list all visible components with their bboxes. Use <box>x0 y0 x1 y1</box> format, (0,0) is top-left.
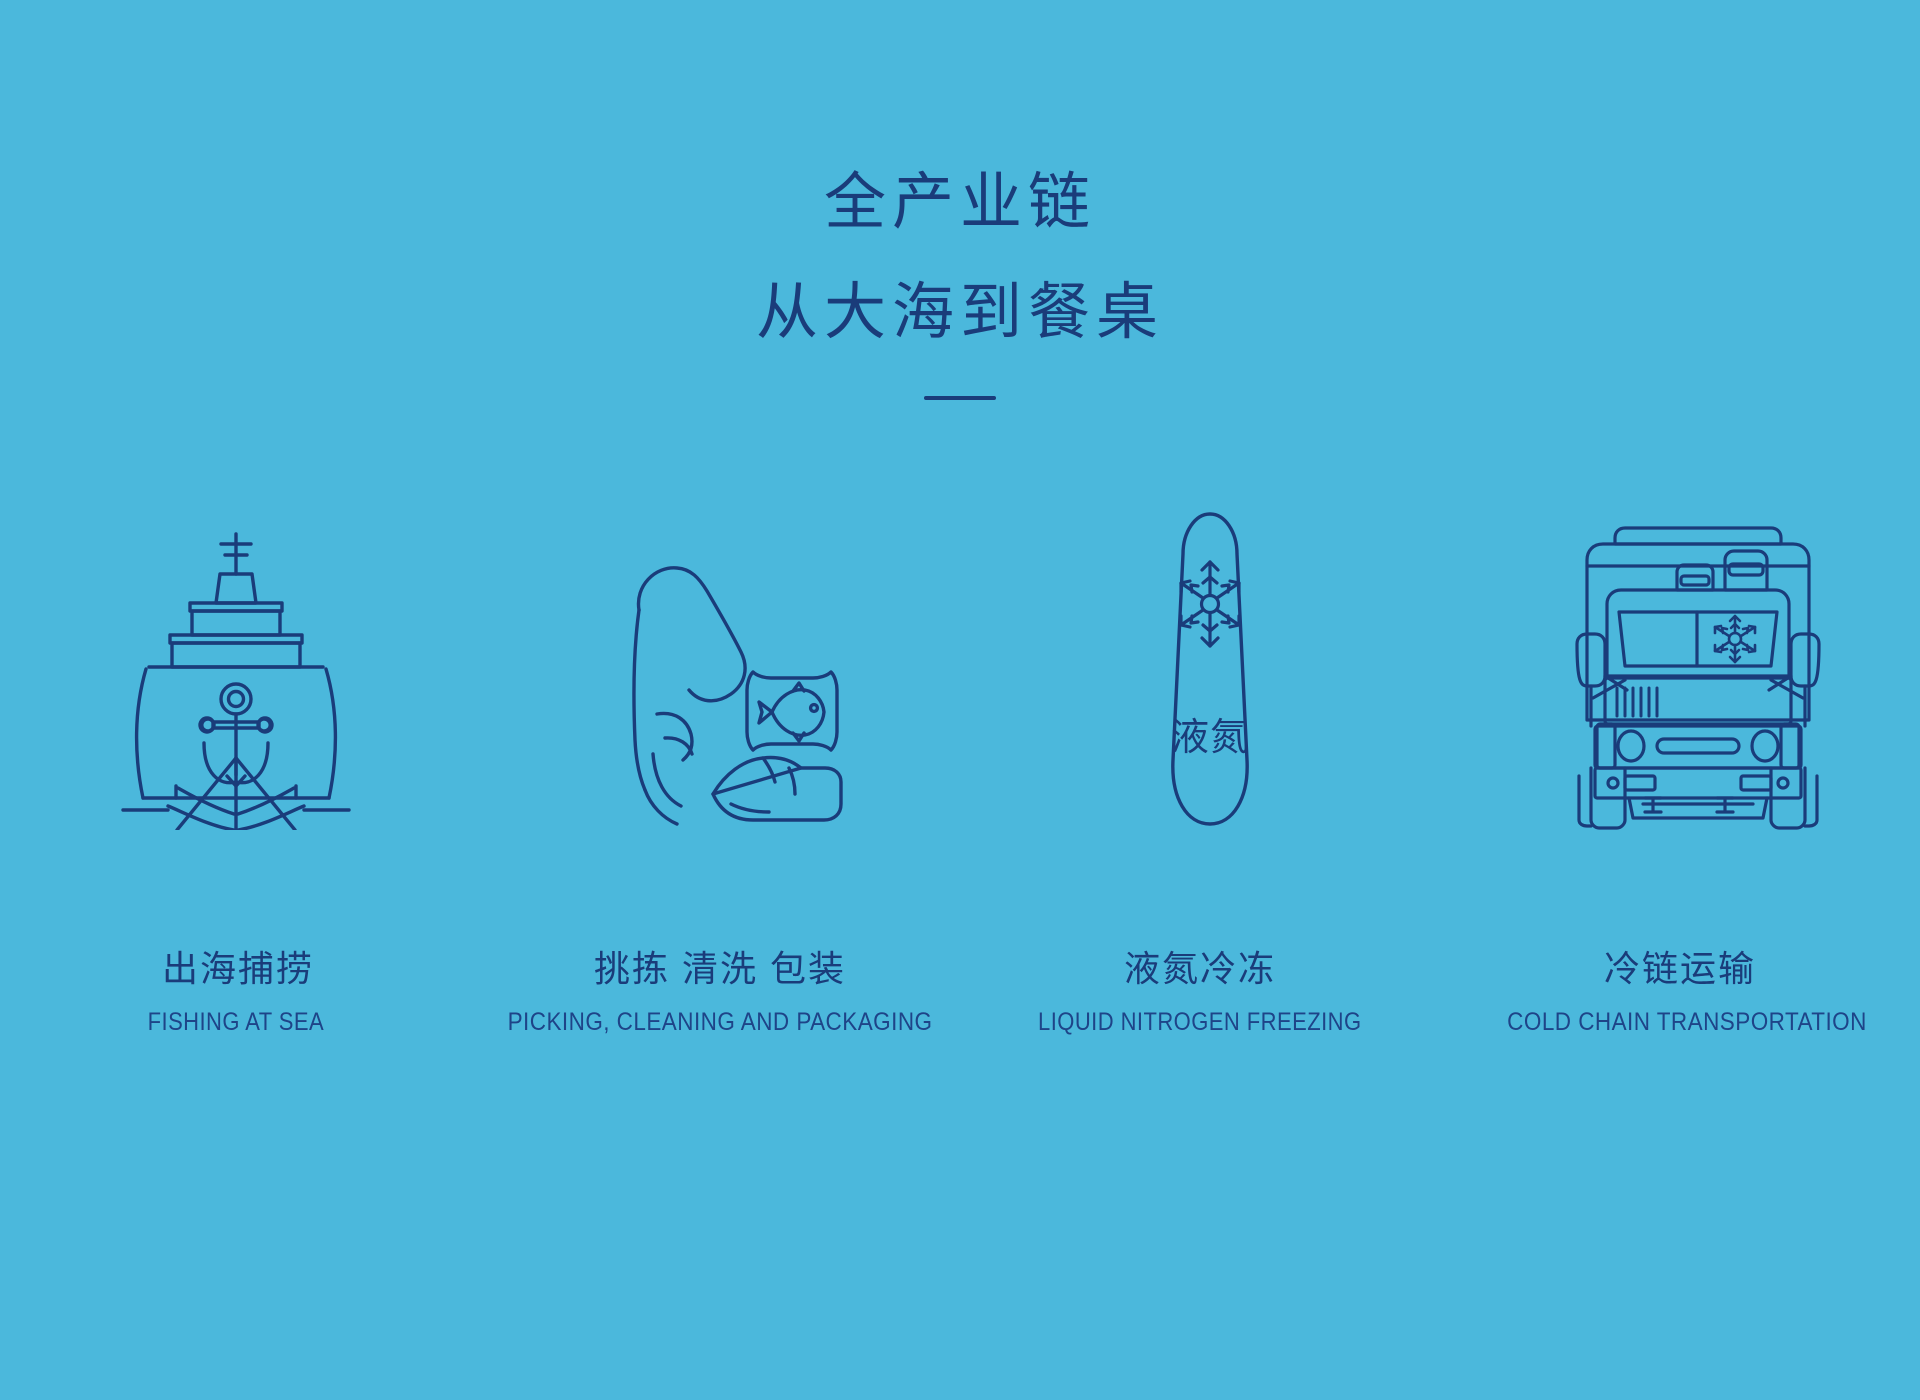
step-label-en: FISHING AT SEA <box>147 1008 324 1037</box>
liquid-nitrogen-tank-icon: 液氮 <box>1145 510 1275 830</box>
page-title-line2: 从大海到餐桌 <box>0 282 1920 344</box>
icon-box <box>603 514 853 844</box>
step-label-en: LIQUID NITROGEN FREEZING <box>1038 1008 1361 1037</box>
step-liquid-nitrogen-freezing: 液氮 液氮冷冻 LIQUID NITROGEN FREEZING <box>960 500 1440 1037</box>
snowflake-glyph <box>1181 562 1239 646</box>
step-picking-cleaning-packaging: 挑拣 清洗 包装 PICKING, CLEANING AND PACKAGING <box>480 500 960 1037</box>
icon-box <box>1573 500 1823 830</box>
divider-wrap <box>0 396 1920 400</box>
icon-box <box>121 500 351 830</box>
fishing-boat-icon <box>121 530 351 830</box>
step-label-cn: 出海捕捞 <box>162 940 314 992</box>
title-divider <box>924 396 996 400</box>
heading-block: 全产业链 从大海到餐桌 <box>0 0 1920 400</box>
step-label-cn: 挑拣 清洗 包装 <box>594 940 846 992</box>
step-cold-chain-transportation: 冷链运输 COLD CHAIN TRANSPORTATION <box>1440 500 1920 1037</box>
process-steps: 出海捕捞 FISHING AT SEA <box>0 500 1920 1037</box>
icon-box: 液氮 <box>1145 500 1275 830</box>
snowflake-decal <box>1715 616 1755 662</box>
tank-label-text: 液氮 <box>1145 706 1275 761</box>
step-label-en: PICKING, CLEANING AND PACKAGING <box>508 1008 933 1037</box>
refrigerated-truck-icon <box>1573 520 1823 830</box>
hands-with-packaged-fish-icon <box>603 554 853 844</box>
step-label-en: COLD CHAIN TRANSPORTATION <box>1507 1008 1867 1037</box>
step-label-cn: 液氮冷冻 <box>1124 940 1276 992</box>
step-label-cn: 冷链运输 <box>1604 940 1756 992</box>
page-title-line1: 全产业链 <box>0 172 1920 234</box>
step-fishing-at-sea: 出海捕捞 FISHING AT SEA <box>0 500 480 1037</box>
